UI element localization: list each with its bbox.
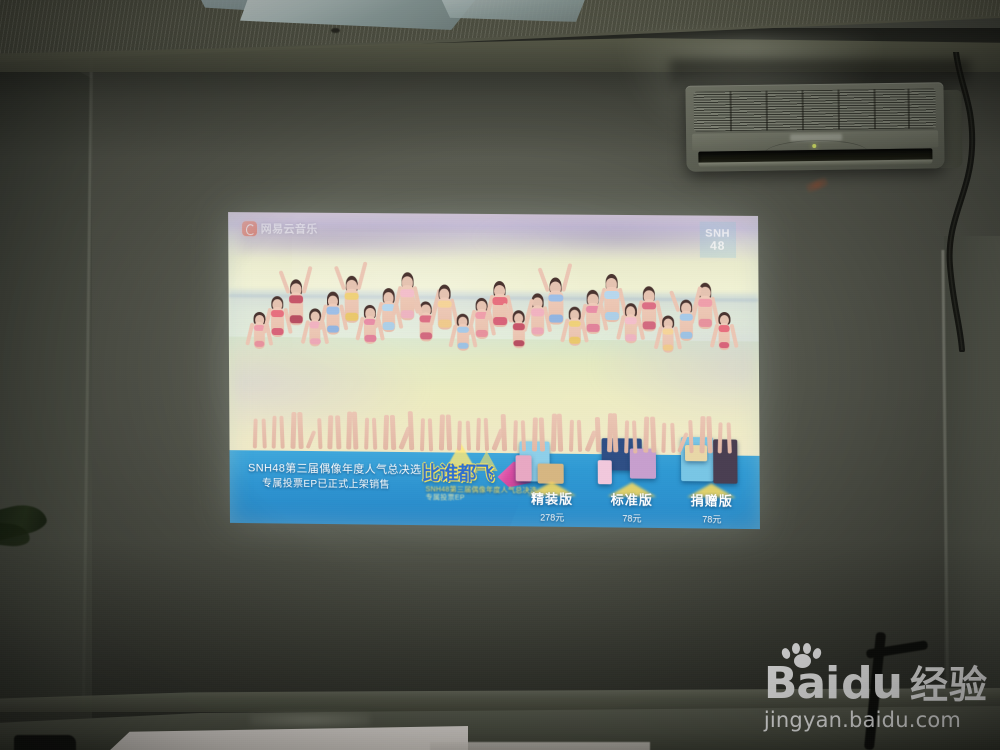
campaign-subtitle-2: 专属投票EP [426, 493, 465, 503]
member-swimsuit-bottom [310, 338, 321, 344]
member-leg [306, 430, 317, 449]
product-item: 精装版278元 [516, 488, 588, 524]
member-leg [297, 412, 303, 449]
group-member [676, 299, 697, 453]
member-leg [625, 420, 630, 453]
member-swimsuit-bottom [549, 314, 562, 322]
paw-print-icon [780, 642, 822, 668]
member-swimsuit-top [698, 299, 712, 307]
snh48-logo-bottom: 48 [710, 239, 726, 251]
group-photo-members [244, 293, 743, 454]
member-leg [501, 414, 507, 451]
table [430, 742, 650, 750]
member-leg [650, 417, 656, 453]
member-swimsuit-bottom [605, 311, 619, 319]
room-photo-scene: 网易云音乐 SNH 48 SNH48第三届偶像年度人气总决选 专属投票EP已正式… [0, 0, 1000, 750]
member-swimsuit-bottom [476, 330, 488, 337]
power-cable [930, 52, 990, 352]
product-item: 标准版78元 [596, 489, 668, 525]
member-swimsuit-bottom [438, 320, 451, 328]
member-swimsuit-top [680, 314, 693, 321]
member-leg [483, 417, 489, 451]
member-swimsuit-top [437, 301, 451, 309]
member-swimsuit-bottom [531, 327, 543, 334]
member-swimsuit-bottom [420, 332, 432, 339]
member-swimsuit-bottom [663, 344, 674, 350]
member-leg [577, 420, 582, 452]
floor-highlight [250, 712, 370, 728]
member-swimsuit-top [531, 309, 544, 316]
member-leg [476, 417, 481, 451]
group-member [602, 274, 623, 453]
member-swimsuit-top [271, 310, 284, 317]
member-swimsuit-bottom [383, 322, 395, 329]
member-leg [279, 415, 285, 448]
member-leg [632, 420, 638, 453]
product-name: 捐赠版 [676, 490, 748, 510]
slide-cloud [471, 214, 716, 250]
member-swimsuit-top [718, 325, 730, 331]
member-leg [521, 421, 526, 452]
product-price: 78元 [596, 511, 668, 525]
member-swimsuit-top [662, 329, 674, 335]
member-swimsuit-bottom [494, 317, 507, 325]
promo-banner-text: SNH48第三届偶像年度人气总决选 专属投票EP已正式上架销售 [248, 462, 422, 494]
watermark-cn-text: 经验 [910, 668, 988, 704]
group-member [286, 279, 307, 449]
netease-cloud-music-logo: 网易云音乐 [242, 220, 318, 237]
member-leg [551, 414, 557, 452]
group-member [509, 310, 530, 452]
group-member [397, 272, 418, 450]
watermark-bai: Bai [764, 664, 839, 704]
member-leg [390, 415, 396, 450]
member-swimsuit-top [624, 317, 637, 324]
group-member [658, 315, 679, 453]
member-leg [678, 432, 690, 453]
product-artwork [516, 455, 532, 481]
member-swimsuit-bottom [327, 325, 339, 332]
member-leg [291, 412, 297, 449]
member-swimsuit-top [400, 289, 415, 297]
member-swimsuit-top [549, 294, 564, 302]
member-leg [569, 420, 574, 452]
member-leg [688, 420, 694, 454]
member-swimsuit-bottom [569, 337, 580, 344]
group-member [546, 277, 567, 452]
member-leg [539, 417, 545, 452]
member-leg [272, 415, 277, 449]
member-leg [364, 418, 369, 450]
ac-brand-mark [790, 134, 842, 142]
member-swimsuit-top [457, 327, 468, 333]
product-price: 278元 [516, 510, 588, 524]
member-leg [700, 416, 706, 453]
member-swimsuit-bottom [400, 310, 414, 318]
watermark-du: du [841, 664, 902, 704]
member-swimsuit-top [569, 320, 581, 327]
group-member [453, 313, 474, 450]
member-leg [532, 417, 538, 452]
member-swimsuit-top [513, 324, 525, 330]
netease-cloud-music-icon [242, 221, 257, 236]
member-leg [466, 421, 471, 451]
member-leg [335, 415, 341, 449]
group-member [620, 303, 641, 453]
member-swimsuit-top [327, 307, 340, 314]
watermark-url: jingyan.baidu.com [764, 708, 988, 732]
member-leg [408, 411, 415, 450]
member-leg [428, 418, 434, 451]
group-member [565, 306, 586, 452]
member-swimsuit-top [642, 302, 656, 310]
member-swimsuit-top [344, 292, 359, 300]
member-leg [662, 423, 667, 453]
member-leg [644, 416, 650, 452]
member-swimsuit-bottom [365, 335, 376, 342]
member-leg [718, 423, 723, 454]
group-member [434, 285, 455, 451]
member-swimsuit-top [289, 296, 303, 304]
member-leg [372, 418, 377, 450]
member-leg [445, 414, 451, 450]
member-leg [420, 418, 425, 451]
product-name: 标准版 [596, 489, 668, 509]
member-swimsuit-bottom [513, 340, 524, 346]
member-swimsuit-bottom [587, 324, 600, 331]
member-swimsuit-bottom [719, 342, 730, 348]
group-member [695, 283, 716, 454]
member-swimsuit-top [604, 291, 619, 299]
ac-indicator-led [812, 144, 816, 148]
member-leg [706, 416, 712, 453]
product-name: 精装版 [516, 488, 588, 508]
campaign-title: 比谁都飞 [421, 458, 493, 486]
member-swimsuit-bottom [681, 332, 693, 339]
member-leg [383, 415, 389, 450]
chair [14, 735, 76, 750]
group-member [714, 312, 735, 454]
product-price: 78元 [676, 512, 748, 526]
member-swimsuit-bottom [625, 334, 637, 341]
projected-slide: 网易云音乐 SNH 48 SNH48第三届偶像年度人气总决选 专属投票EP已正式… [228, 212, 760, 529]
member-swimsuit-bottom [643, 322, 656, 330]
member-swimsuit-bottom [458, 343, 469, 349]
member-leg [671, 423, 676, 453]
group-member [249, 312, 270, 449]
member-leg [726, 423, 731, 454]
member-leg [594, 417, 600, 452]
member-leg [262, 419, 267, 449]
netease-logo-text: 网易云音乐 [261, 220, 318, 236]
baidu-jingyan-watermark: Bai du 经验 jingyan.baidu.com [764, 664, 988, 732]
product-artwork [597, 460, 611, 484]
group-member [342, 276, 363, 450]
promo-subline: 专属投票EP已正式上架销售 [248, 478, 422, 494]
promo-headline: SNH48第三届偶像年度人气总决选 [248, 462, 422, 480]
group-member [639, 286, 660, 453]
air-conditioner [685, 82, 944, 172]
member-leg [317, 418, 322, 449]
member-leg [612, 413, 619, 452]
member-leg [457, 421, 462, 451]
member-arm [730, 323, 739, 347]
member-swimsuit-bottom [272, 328, 284, 335]
member-arm [245, 323, 254, 346]
ceiling-fixture-dot [331, 28, 340, 33]
member-swimsuit-bottom [290, 315, 303, 323]
product-item: 捐赠版78元 [676, 490, 748, 526]
member-swimsuit-bottom [699, 319, 712, 327]
member-leg [556, 414, 563, 452]
member-swimsuit-bottom [254, 341, 265, 347]
member-leg [253, 419, 258, 449]
snh48-logo: SNH 48 [699, 222, 735, 258]
member-leg [352, 412, 359, 450]
member-leg [439, 414, 445, 450]
member-leg [513, 420, 518, 451]
member-leg [328, 415, 334, 449]
member-swimsuit-bottom [345, 312, 358, 320]
